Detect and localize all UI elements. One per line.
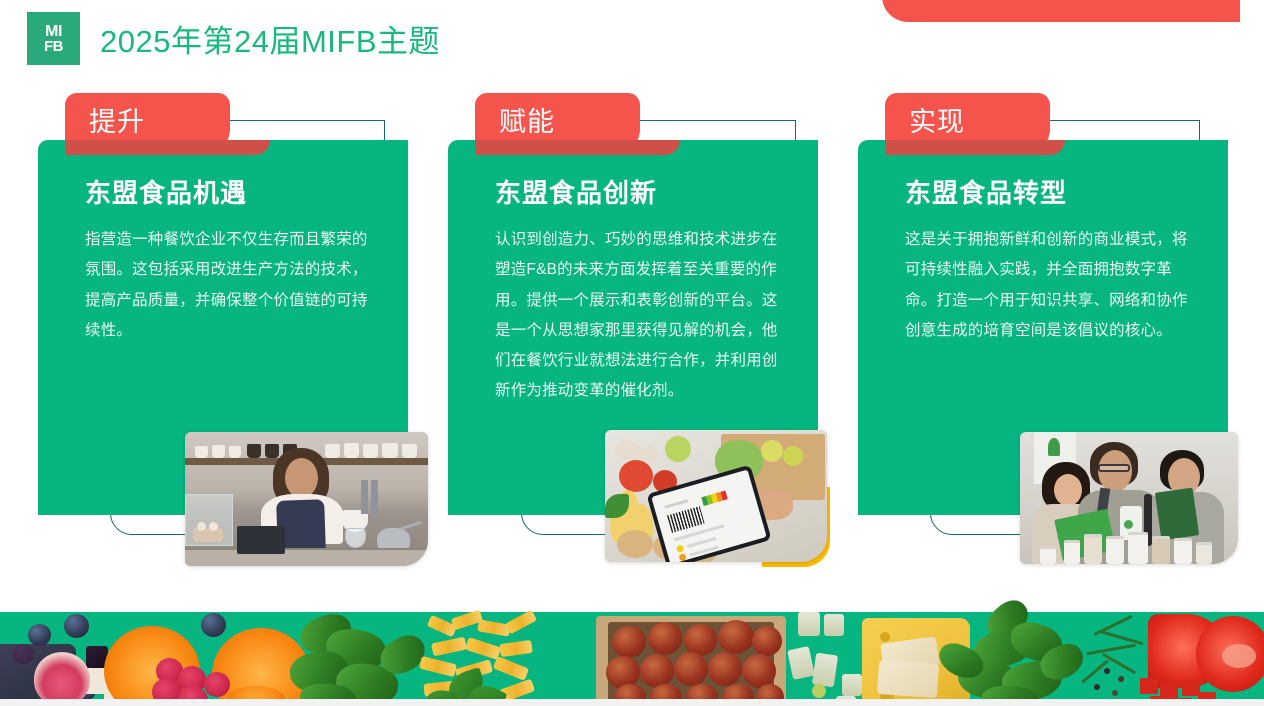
slide-header: MI FB 2025年第24届MIFB主题	[27, 12, 440, 65]
logo-text-fb: FB	[44, 40, 63, 53]
food-blueberry	[28, 624, 51, 646]
top-red-banner	[882, 0, 1240, 22]
food-band-bottom-strip	[0, 699, 1264, 706]
page-title: 2025年第24届MIFB主题	[100, 16, 440, 61]
card-1-tag: 提升	[65, 93, 230, 155]
food-fig-half	[34, 652, 90, 706]
food-blueberry	[201, 613, 226, 637]
card-2-description: 认识到创造力、巧妙的思维和技术进步在塑造F&B的未来方面发挥着至关重要的作用。提…	[495, 225, 785, 406]
slide-canvas: MI FB 2025年第24届MIFB主题 东盟食品机遇 指营造一种餐饮企业不仅…	[0, 0, 1264, 706]
food-asparagus-stalk	[824, 614, 844, 636]
card-2-tag: 赋能	[475, 93, 640, 155]
food-gooseberry	[674, 652, 708, 686]
food-border-band	[0, 586, 1264, 706]
food-blueberry	[64, 614, 89, 638]
food-gooseberry	[640, 654, 674, 688]
food-asparagus-stalk	[798, 612, 820, 636]
card-1-description: 指营造一种餐饮企业不仅生存而且繁荣的氛围。这包括采用改进生产方法的技术，提高产品…	[85, 225, 375, 346]
food-peppercorn	[1094, 684, 1100, 690]
food-gooseberry	[718, 620, 754, 654]
food-asparagus-stalk	[842, 674, 862, 696]
card-3-description: 这是关于拥抱新鲜和创新的商业模式，将可持续性融入实践，并全面拥抱数字革命。打造一…	[905, 225, 1195, 346]
logo-line-2: FB	[44, 40, 63, 53]
food-pea-slice	[812, 684, 826, 698]
food-gooseberry	[708, 652, 742, 686]
photo-business-meeting-booth	[1020, 432, 1238, 564]
card-1-tag-label: 提升	[89, 109, 145, 136]
food-raspberry	[204, 672, 230, 697]
food-gooseberry	[752, 626, 782, 656]
mifb-logo: MI FB	[27, 12, 80, 65]
food-peppercorn	[1112, 690, 1118, 696]
card-2-title: 东盟食品创新	[495, 178, 785, 209]
card-2-tag-label: 赋能	[499, 109, 555, 136]
logo-text-mi: MI	[45, 25, 62, 38]
photo-barista-cafe	[185, 432, 428, 566]
card-3-title: 东盟食品转型	[905, 178, 1195, 209]
food-cheese-hole	[880, 632, 890, 642]
food-tomato-core	[1222, 644, 1256, 668]
photo-tablet-nutrition-scan	[605, 430, 827, 562]
food-peppercorn	[1118, 676, 1124, 682]
food-asparagus-stalk	[812, 653, 838, 688]
card-3-tag-label: 实现	[909, 109, 965, 136]
card-1-title: 东盟食品机遇	[85, 178, 375, 209]
food-gooseberry	[612, 626, 646, 658]
logo-line-1: MI	[45, 25, 62, 38]
food-diced-tomato	[1140, 678, 1158, 694]
food-gooseberry	[648, 622, 682, 655]
food-gooseberry	[742, 654, 776, 688]
food-peppercorn	[1104, 668, 1110, 674]
card-3-tag: 实现	[885, 93, 1050, 155]
food-cheese-slice	[877, 660, 939, 698]
